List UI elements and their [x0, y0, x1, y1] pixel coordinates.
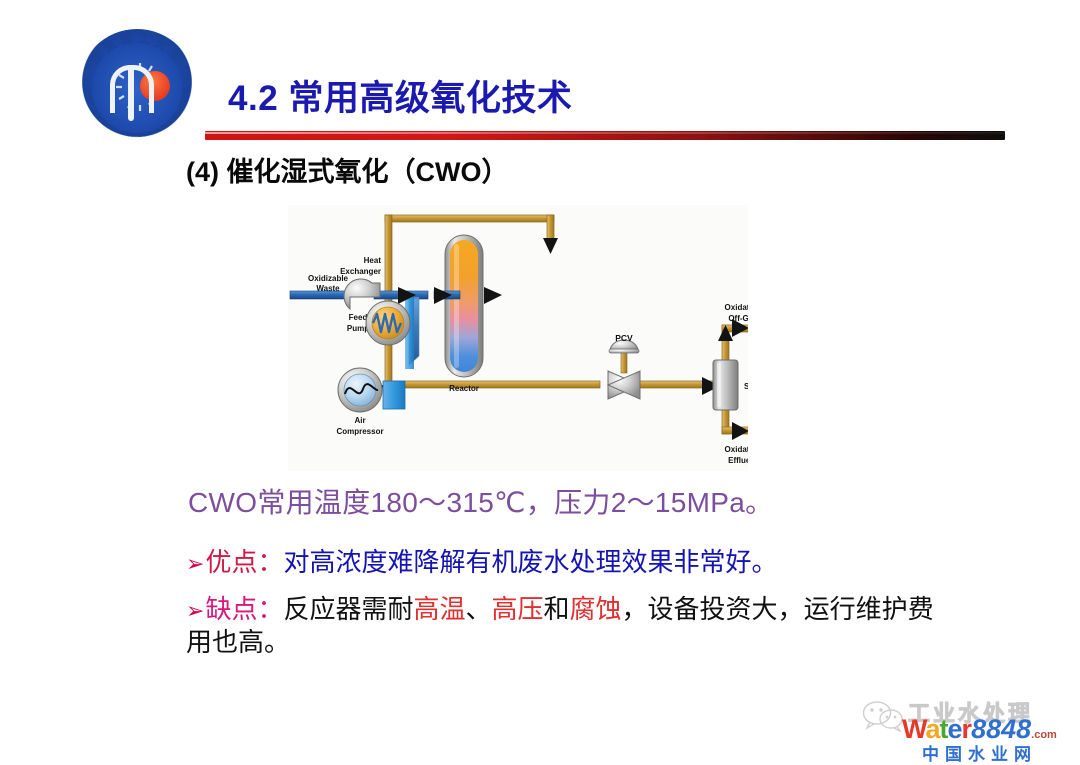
section-subtitle: (4) 催化湿式氧化（CWO） [186, 150, 508, 189]
process-flow-diagram: Reactor Oxidizable Waste Feed Pump [288, 205, 748, 471]
drawback-separator-2: 和 [544, 594, 570, 624]
separator-vessel [713, 360, 738, 410]
label-separator: Separator [744, 382, 748, 391]
label-off-gas-line2: Off-Gas [728, 314, 748, 323]
label-pcv: PCV [615, 333, 633, 343]
heat-exchanger [366, 301, 410, 345]
title-divider-gloss [205, 132, 1005, 134]
drawback-highlight-high-pressure: 高压 [492, 594, 544, 624]
label-feed-pump-line1: Feed [349, 313, 368, 322]
reactor-vessel [445, 235, 483, 377]
drawback-separator-1: 、 [465, 594, 491, 624]
logo-monogram-stem [128, 65, 134, 121]
label-off-gas-line1: Oxidation [725, 303, 748, 312]
drawback-highlight-corrosion: 腐蚀 [570, 594, 622, 624]
drawback-text-seg1: 反应器需耐 [283, 594, 413, 624]
site-watermark: 工业水处理 Water8848.com 中国水业网 [860, 694, 1075, 760]
drawback-bullet: ➢缺点：反应器需耐高温、高压和腐蚀，设备投资大，运行维护费用也高。 [186, 593, 946, 660]
label-heat-exchanger-line1: Heat [364, 256, 382, 265]
wechat-icon [862, 700, 904, 732]
bullet-arrow-icon: ➢ [186, 551, 204, 576]
label-air-compressor-line1: Air [354, 416, 365, 425]
operating-parameters-line: CWO常用温度180～315℃，压力2～15MPa。 [188, 481, 773, 521]
hot-gold-piping [381, 215, 748, 440]
label-effluent-line1: Oxidation [725, 445, 748, 454]
advantage-label: 优点： [205, 547, 283, 577]
bullet-arrow-icon: ➢ [186, 598, 204, 623]
drawback-text-seg2: ，设备投资大， [622, 594, 804, 624]
process-flow-svg: Reactor Oxidizable Waste Feed Pump [288, 205, 748, 471]
drawback-label: 缺点： [205, 594, 283, 624]
logo-inner-disc [92, 43, 182, 133]
label-oxidizable-waste-line2: Waste [316, 284, 340, 293]
label-effluent-line2: Effluent [728, 456, 748, 465]
pcv-control-valve [608, 340, 640, 399]
advantage-bullet: ➢优点：对高浓度难降解有机废水处理效果非常好。 [186, 546, 986, 579]
page-title: 4.2 常用高级氧化技术 [228, 70, 572, 121]
label-air-compressor-line2: Compressor [336, 427, 383, 436]
label-heat-exchanger-line2: Exchanger [340, 267, 381, 276]
drawback-highlight-high-temperature: 高温 [413, 594, 465, 624]
advantage-text: 对高浓度难降解有机废水处理效果非常好。 [283, 547, 777, 577]
watermark-site-name-cn: 中国水业网 [922, 740, 1037, 765]
label-reactor: Reactor [449, 384, 479, 393]
feed-pump [344, 279, 380, 309]
air-compressor [338, 368, 405, 412]
university-logo: 华东理工大学 EAST CHINA UNIVERSITY OF SCIENCE … [78, 29, 196, 147]
